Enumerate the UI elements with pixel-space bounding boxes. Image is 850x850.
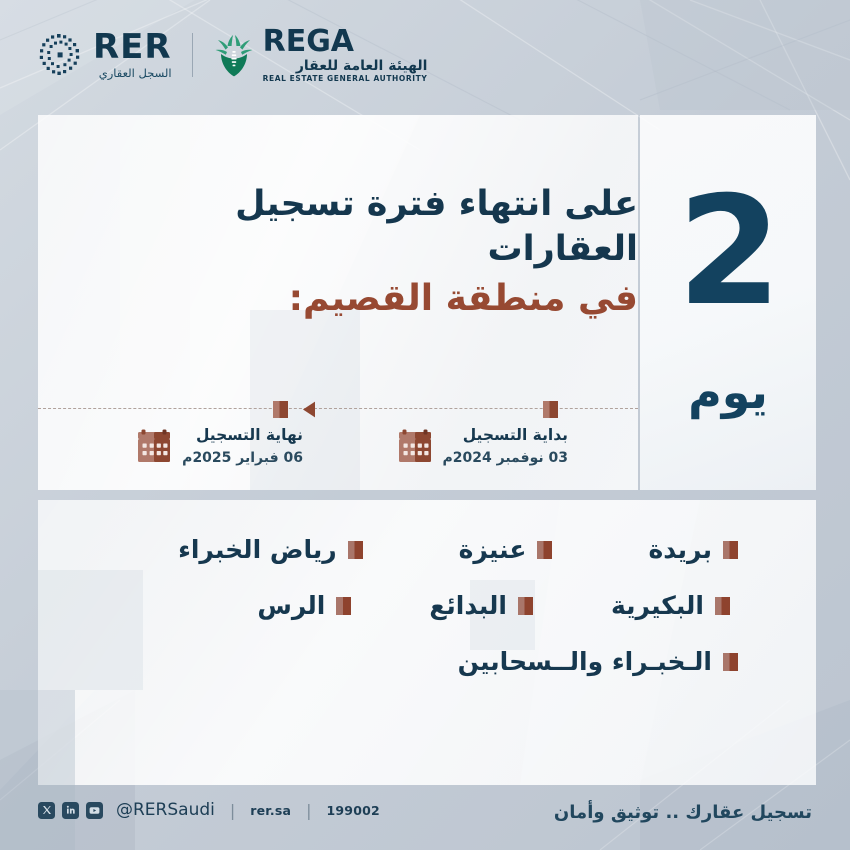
cities-row-1: بريدة عنيزة رياض الخبراء xyxy=(38,535,738,564)
cities-row-2: البكيرية البدائع الرس xyxy=(38,591,738,620)
rega-wordmark: REGA xyxy=(263,27,428,57)
countdown-number: 2 xyxy=(677,177,778,327)
logo-divider xyxy=(192,33,193,77)
timeline-start-title: بداية التسجيل xyxy=(443,425,568,446)
rer-wordmark: RER xyxy=(93,30,172,64)
square-bullet-icon xyxy=(518,597,533,615)
footer: @RERSaudi | rer.sa | 199002 تسجيل عقارك … xyxy=(0,784,850,850)
dot-matrix-circle-icon xyxy=(38,33,82,77)
calendar-icon xyxy=(136,428,172,464)
countdown-block: 2 يوم xyxy=(640,115,816,490)
square-bullet-icon xyxy=(715,597,730,615)
city-item: بريدة xyxy=(648,535,738,564)
headline-line-2: في منطقة القصيم: xyxy=(138,276,638,323)
palm-tree-icon xyxy=(213,33,255,77)
x-twitter-icon[interactable] xyxy=(38,802,55,819)
timeline-marker-start xyxy=(543,401,558,418)
rega-english-name: REAL ESTATE GENERAL AUTHORITY xyxy=(263,75,428,83)
footer-phone[interactable]: 199002 xyxy=(327,803,380,818)
city-item: رياض الخبراء xyxy=(178,535,363,564)
footer-separator-2: | xyxy=(306,801,311,820)
city-label: عنيزة xyxy=(459,535,527,564)
city-label: الرس xyxy=(257,591,325,620)
footer-tagline: تسجيل عقارك .. توثيق وأمان xyxy=(554,802,812,823)
city-label: البكيرية xyxy=(611,591,704,620)
city-label: رياض الخبراء xyxy=(178,535,337,564)
city-item: البكيرية xyxy=(611,591,730,620)
city-item: عنيزة xyxy=(459,535,553,564)
cities-list: بريدة عنيزة رياض الخبراء البكيرية البدائ… xyxy=(38,535,738,703)
city-label: الـخبـراء والــسحابين xyxy=(458,647,712,676)
social-handle[interactable]: @RERSaudi xyxy=(116,800,215,820)
rega-logo: REGA الهيئة العامة للعقار REAL ESTATE GE… xyxy=(213,27,428,83)
city-item: الرس xyxy=(257,591,351,620)
footer-website[interactable]: rer.sa xyxy=(250,803,291,818)
countdown-unit: يوم xyxy=(688,365,768,419)
linkedin-icon[interactable] xyxy=(62,802,79,819)
city-label: البدائع xyxy=(429,591,507,620)
city-item: الـخبـراء والــسحابين xyxy=(458,647,738,676)
headline-line-1: على انتهاء فترة تسجيل العقارات xyxy=(138,182,638,272)
square-bullet-icon xyxy=(723,653,738,671)
cities-row-3: الـخبـراء والــسحابين xyxy=(38,647,738,676)
city-label: بريدة xyxy=(648,535,712,564)
footer-social-block: @RERSaudi | rer.sa | 199002 xyxy=(38,800,380,820)
timeline-marker-end xyxy=(273,401,288,418)
headline-block: على انتهاء فترة تسجيل العقارات في منطقة … xyxy=(138,182,638,322)
square-bullet-icon xyxy=(723,541,738,559)
youtube-icon[interactable] xyxy=(86,802,103,819)
city-item: البدائع xyxy=(429,591,533,620)
calendar-icon xyxy=(397,428,433,464)
timeline: بداية التسجيل 03 نوفمبر 2024م xyxy=(38,395,638,495)
square-bullet-icon xyxy=(336,597,351,615)
rer-logo: RER السجل العقاري xyxy=(38,30,172,80)
timeline-item-start: بداية التسجيل 03 نوفمبر 2024م xyxy=(397,425,568,468)
timeline-start-date: 03 نوفمبر 2024م xyxy=(443,449,568,468)
timeline-end-date: 06 فبراير 2025م xyxy=(182,449,303,468)
square-bullet-icon xyxy=(537,541,552,559)
chevron-left-icon xyxy=(300,400,318,419)
footer-separator-1: | xyxy=(230,801,235,820)
timeline-item-end: نهاية التسجيل 06 فبراير 2025م xyxy=(136,425,303,468)
rer-subtitle: السجل العقاري xyxy=(99,68,172,80)
timeline-end-title: نهاية التسجيل xyxy=(182,425,303,446)
rega-arabic-name: الهيئة العامة للعقار xyxy=(263,59,428,73)
header-logos: RER السجل العقاري xyxy=(0,0,850,110)
square-bullet-icon xyxy=(348,541,363,559)
infographic-poster: RER السجل العقاري xyxy=(0,0,850,850)
